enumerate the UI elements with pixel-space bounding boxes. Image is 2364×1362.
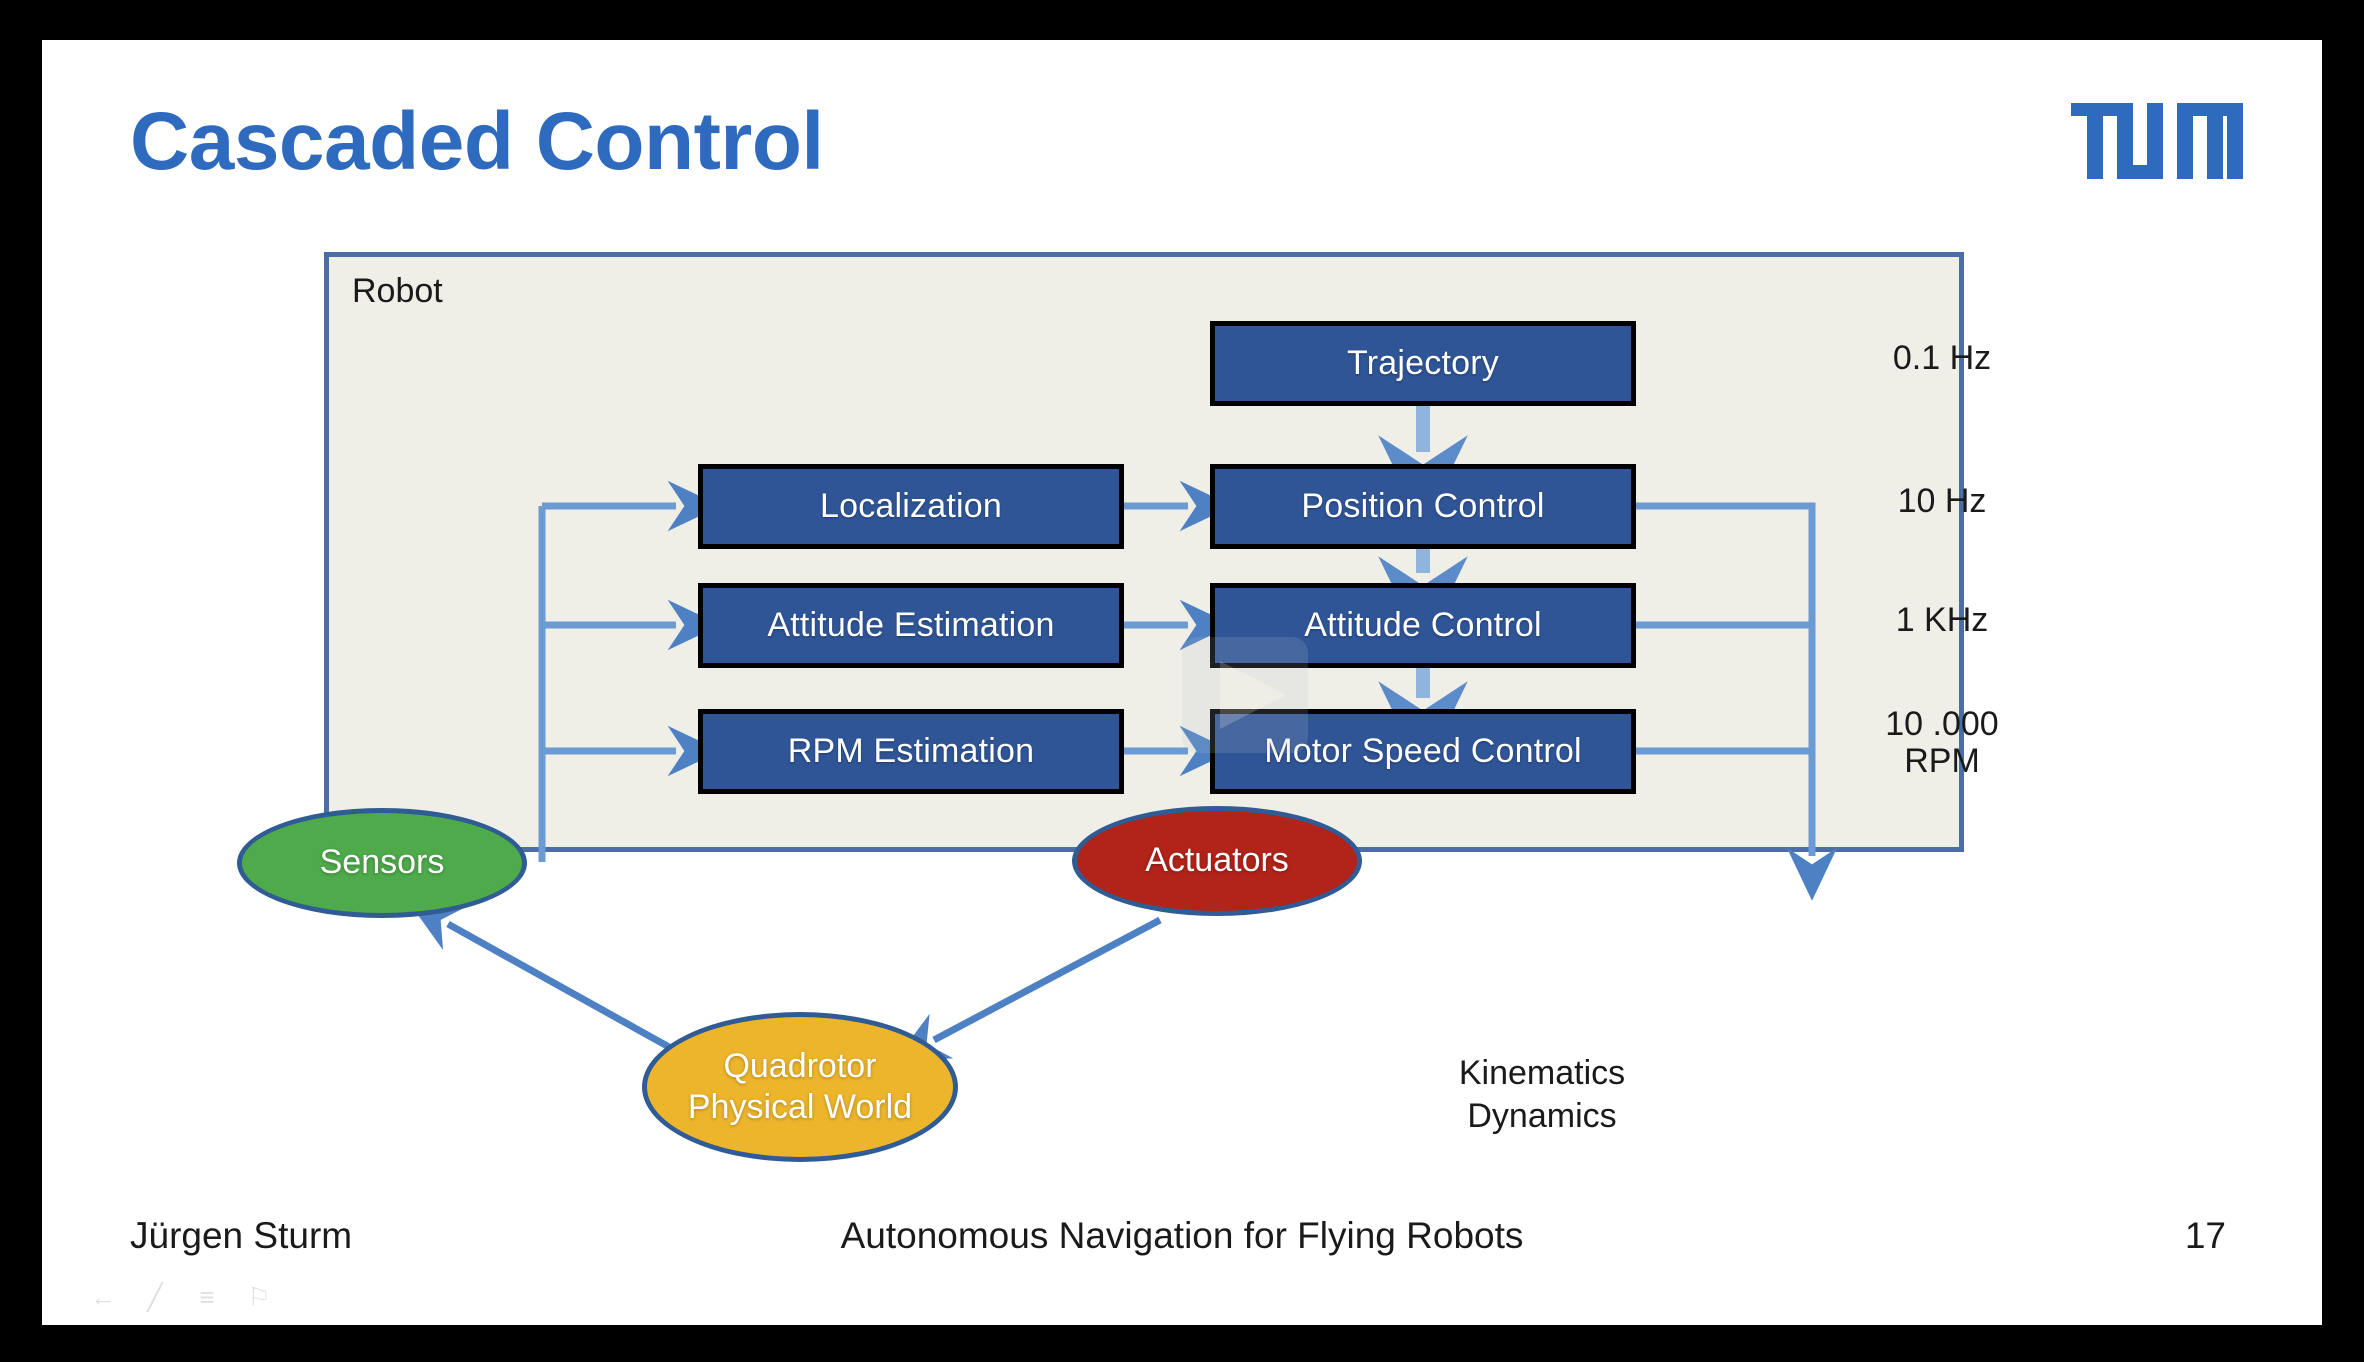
menu-icon[interactable]: ≡ (194, 1284, 220, 1310)
block-trajectory[interactable]: Trajectory (1210, 321, 1636, 406)
footer-title: Autonomous Navigation for Flying Robots (42, 1215, 2322, 1257)
block-localization[interactable]: Localization (698, 464, 1124, 549)
block-attitude-control[interactable]: Attitude Control (1210, 583, 1636, 668)
robot-container-label: Robot (352, 272, 443, 311)
slide-stage: Cascaded Control Robot (0, 0, 2364, 1362)
footer-page-number: 17 (2185, 1215, 2226, 1257)
block-motor-speed-control[interactable]: Motor Speed Control (1210, 709, 1636, 794)
kinematics-dynamics-annotation: Kinematics Dynamics (1402, 1052, 1682, 1138)
node-sensors[interactable]: Sensors (237, 808, 527, 918)
tum-logo-icon (2071, 103, 2243, 179)
rate-label-attitude: 1 KHz (1847, 602, 2037, 639)
rate-label-motor: 10 .000 RPM (1847, 706, 2037, 779)
back-arrow-icon[interactable]: ← (90, 1284, 116, 1310)
pen-icon[interactable]: ╱ (142, 1284, 168, 1310)
block-position-control[interactable]: Position Control (1210, 464, 1636, 549)
node-actuators[interactable]: Actuators (1072, 806, 1362, 916)
rate-label-motor-line1: 10 .000 (1847, 706, 2037, 743)
page-title: Cascaded Control (130, 95, 824, 189)
annotation-line-kinematics: Kinematics (1402, 1052, 1682, 1095)
rate-label-position: 10 Hz (1847, 483, 2037, 520)
annotation-line-dynamics: Dynamics (1402, 1095, 1682, 1138)
slide-canvas: Cascaded Control Robot (42, 40, 2322, 1325)
node-quadrotor-line1: Quadrotor (688, 1046, 912, 1087)
comment-icon[interactable]: ⚐ (246, 1284, 272, 1310)
block-attitude-estimation[interactable]: Attitude Estimation (698, 583, 1124, 668)
presenter-controls[interactable]: ← ╱ ≡ ⚐ (90, 1284, 272, 1310)
rate-label-trajectory: 0.1 Hz (1847, 340, 2037, 377)
robot-container (324, 252, 1964, 852)
rate-label-motor-line2: RPM (1847, 743, 2037, 780)
block-rpm-estimation[interactable]: RPM Estimation (698, 709, 1124, 794)
node-quadrotor[interactable]: Quadrotor Physical World (642, 1012, 958, 1162)
node-quadrotor-line2: Physical World (688, 1087, 912, 1128)
